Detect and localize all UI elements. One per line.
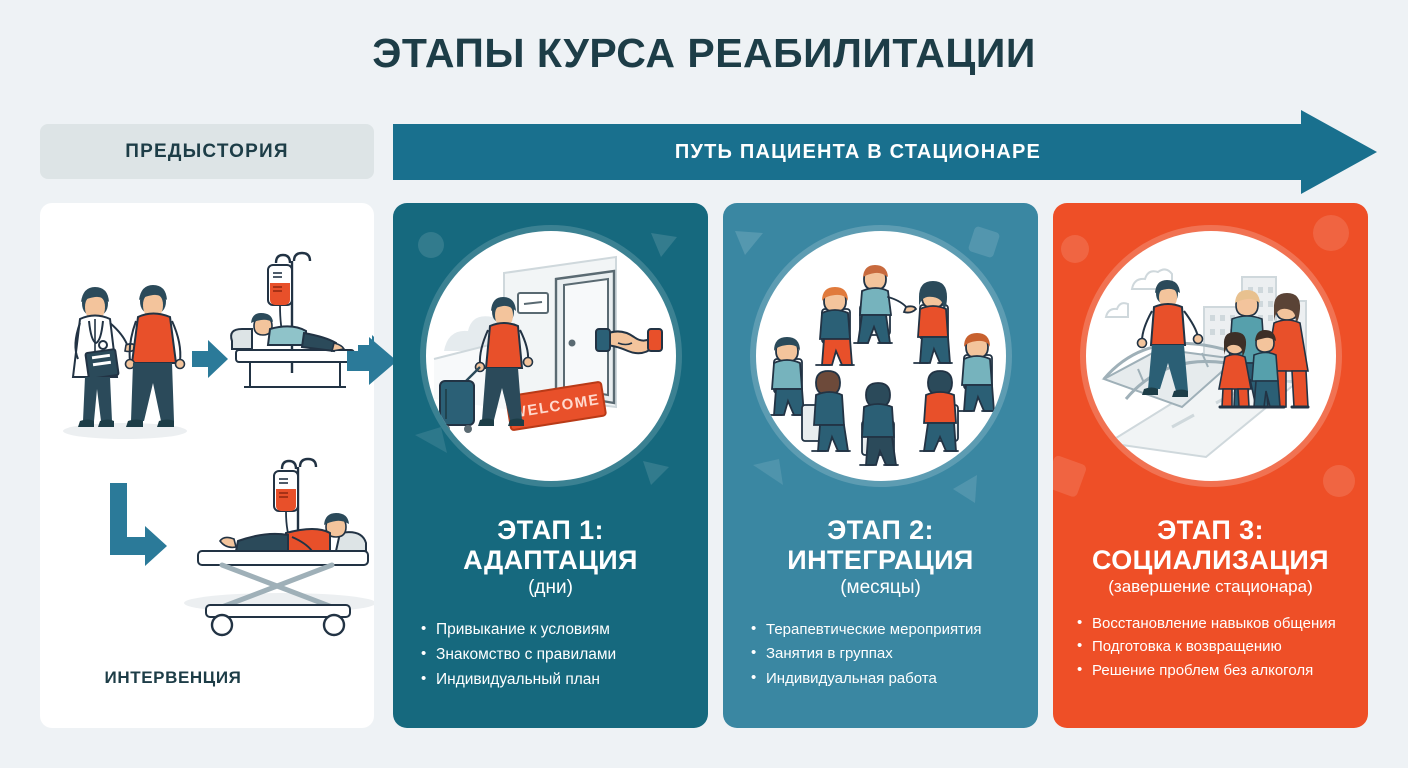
banner-arrow-shape	[393, 110, 1377, 194]
group-member	[914, 281, 952, 363]
stage-2-heading-line2: ИНТЕГРАЦИЯ	[723, 545, 1038, 575]
stage-3-heading: ЭТАП 3: СОЦИАЛИЗАЦИЯ (завершение стацион…	[1053, 515, 1368, 597]
stage-3-bullets: Восстановление навыков общения Подготовк…	[1075, 615, 1359, 685]
page-title: ЭТАПЫ КУРСА РЕАБИЛИТАЦИИ	[0, 30, 1408, 77]
list-item: Терапевтические мероприятия	[749, 621, 1021, 639]
banner-prehistory: ПРЕДЫСТОРИЯ	[40, 124, 374, 179]
group-member	[854, 265, 916, 343]
list-item: Занятия в группах	[749, 645, 1021, 663]
stage-1-heading: ЭТАП 1: АДАПТАЦИЯ (дни)	[393, 515, 708, 599]
stage-1-heading-line2: АДАПТАЦИЯ	[393, 545, 708, 575]
stage-2-heading: ЭТАП 2: ИНТЕГРАЦИЯ (месяцы)	[723, 515, 1038, 599]
stage-1-subtitle: (дни)	[393, 577, 708, 599]
group-member	[768, 337, 806, 415]
stage-2-subtitle: (месяцы)	[723, 577, 1038, 599]
stage-card-3[interactable]: ЭТАП 3: СОЦИАЛИЗАЦИЯ (завершение стацион…	[1053, 203, 1368, 728]
list-item: Привыкание к условиям	[419, 621, 691, 640]
list-item: Решение проблем без алкоголя	[1075, 662, 1359, 680]
prehistory-panel: ИНТЕРВЕНЦИЯ ДЕТОКСИКАЦИЯ	[40, 203, 374, 728]
stage-card-2[interactable]: ЭТАП 2: ИНТЕГРАЦИЯ (месяцы) Терапевтичес…	[723, 203, 1038, 728]
stage-3-heading-line1: ЭТАП 3:	[1053, 515, 1368, 545]
list-item: Индивидуальная работа	[749, 670, 1021, 688]
banner-prehistory-label: ПРЕДЫСТОРИЯ	[125, 141, 288, 163]
stage-2-heading-line1: ЭТАП 2:	[723, 515, 1038, 545]
stage-2-bullets: Терапевтические мероприятия Занятия в гр…	[749, 621, 1021, 694]
stage-1-heading-line1: ЭТАП 1:	[393, 515, 708, 545]
group-member	[958, 333, 996, 411]
group-member	[816, 287, 854, 365]
scene-gurney-iv	[184, 459, 374, 635]
scene-patient-bed-iv	[231, 253, 354, 387]
list-item: Подготовка к возвращению	[1075, 638, 1359, 656]
stage-3-subtitle: (завершение стационара)	[1053, 577, 1368, 597]
stage-1-bullets: Привыкание к условиям Знакомство с прави…	[419, 621, 691, 696]
list-item: Восстановление навыков общения	[1075, 615, 1359, 633]
list-item: Знакомство с правилами	[419, 646, 691, 665]
stage-card-1[interactable]: WELCOME	[393, 203, 708, 728]
arrow-1-icon	[192, 340, 228, 378]
stage-1-illustration: WELCOME	[426, 231, 676, 481]
scene-doctor-patient	[63, 285, 187, 439]
group-member	[802, 371, 850, 451]
label-intervention: ИНТЕРВЕНЦИЯ	[58, 668, 288, 688]
group-member	[860, 383, 898, 465]
list-item: Индивидуальный план	[419, 671, 691, 690]
arrow-into-stage1-icon	[347, 334, 399, 388]
stage-2-illustration	[756, 231, 1006, 481]
group-member	[920, 371, 958, 451]
stage-3-heading-line2: СОЦИАЛИЗАЦИЯ	[1053, 545, 1368, 575]
arrow-elbow-down-right-icon	[110, 483, 167, 566]
prehistory-illustrations	[40, 203, 374, 728]
infographic-page: ЭТАПЫ КУРСА РЕАБИЛИТАЦИИ ПРЕДЫСТОРИЯ ПУТ…	[0, 0, 1408, 768]
banner-patient-path: ПУТЬ ПАЦИЕНТА В СТАЦИОНАРЕ	[393, 110, 1377, 194]
stage-3-illustration	[1086, 231, 1336, 481]
